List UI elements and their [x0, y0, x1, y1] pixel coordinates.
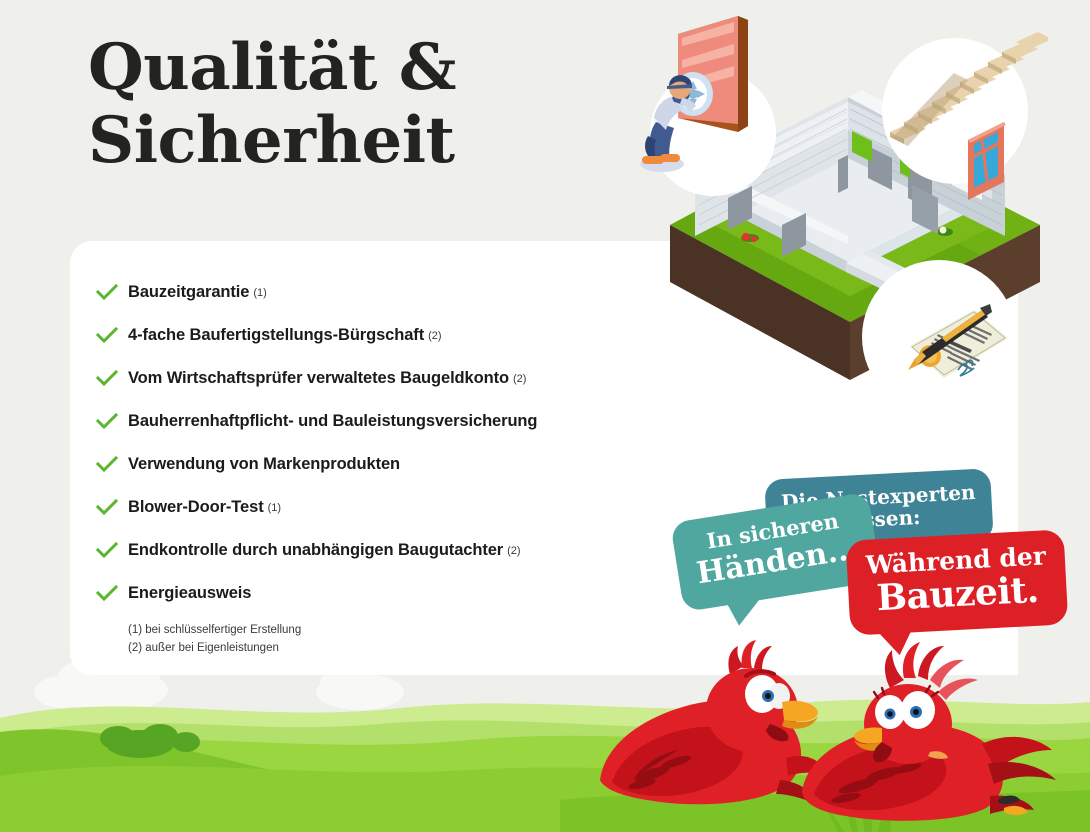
staircase-window-icon: [868, 10, 1048, 200]
page-title-line-2: Sicherheit: [88, 105, 456, 178]
list-item: Verwendung von Markenprodukten: [96, 443, 816, 486]
list-item-label: Blower-Door-Test: [128, 498, 264, 517]
speech-bubble-right: Während der Bauzeit.: [846, 529, 1069, 635]
check-icon: [96, 370, 128, 388]
poster-canvas: Qualität & Sicherheit: [0, 0, 1090, 832]
bird-mascots: [590, 632, 1090, 832]
list-item-note: (2): [507, 545, 520, 557]
check-icon: [96, 499, 128, 517]
page-title: Qualität & Sicherheit: [88, 32, 456, 178]
footnotes: (1) bei schlüsselfertiger Erstellung (2)…: [128, 622, 301, 658]
bird-right-icon: [802, 642, 1056, 821]
list-item-label: Energieausweis: [128, 584, 251, 603]
check-icon: [96, 456, 128, 474]
list-item-label: Bauherrenhaftpflicht- und Bauleistungsve…: [128, 412, 537, 431]
page-title-line-1: Qualität &: [88, 32, 456, 105]
window-icon: [968, 122, 1006, 200]
staircase-icon: [890, 32, 1048, 146]
check-icon: [96, 413, 128, 431]
check-icon: [96, 284, 128, 302]
footnote-2: (2) außer bei Eigenleistungen: [128, 640, 301, 658]
check-icon: [96, 327, 128, 345]
list-item: Vom Wirtschaftsprüfer verwaltetes Baugel…: [96, 357, 816, 400]
list-item-label: Endkontrolle durch unabhängigen Baugutac…: [128, 541, 503, 560]
list-item: Bauzeitgarantie (1): [96, 271, 816, 314]
list-item: Bauherrenhaftpflicht- und Bauleistungsve…: [96, 400, 816, 443]
list-item-note: (1): [268, 502, 281, 514]
list-item-label: Vom Wirtschaftsprüfer verwaltetes Baugel…: [128, 369, 509, 388]
list-item: 4-fache Baufertigstellungs-Bürgschaft (2…: [96, 314, 816, 357]
check-icon: [96, 542, 128, 560]
insulation-panel-icon: [620, 6, 810, 206]
bird-left-icon: [600, 640, 826, 804]
list-item-note: (2): [428, 330, 441, 342]
worker-figure: [640, 75, 696, 172]
list-item-label: 4-fache Baufertigstellungs-Bürgschaft: [128, 326, 424, 345]
two-red-birds-illustration: [590, 632, 1090, 832]
bubble-tail: [876, 628, 913, 656]
contract-pen-icon: [862, 260, 1016, 414]
check-icon: [96, 585, 128, 603]
list-item-label: Verwendung von Markenprodukten: [128, 455, 400, 474]
bubble-right-line-2: Bauzeit.: [862, 570, 1054, 619]
list-item-label: Bauzeitgarantie: [128, 283, 249, 302]
list-item-note: (2): [513, 373, 526, 385]
footnote-1: (1) bei schlüsselfertiger Erstellung: [128, 622, 301, 640]
list-item-note: (1): [253, 287, 266, 299]
